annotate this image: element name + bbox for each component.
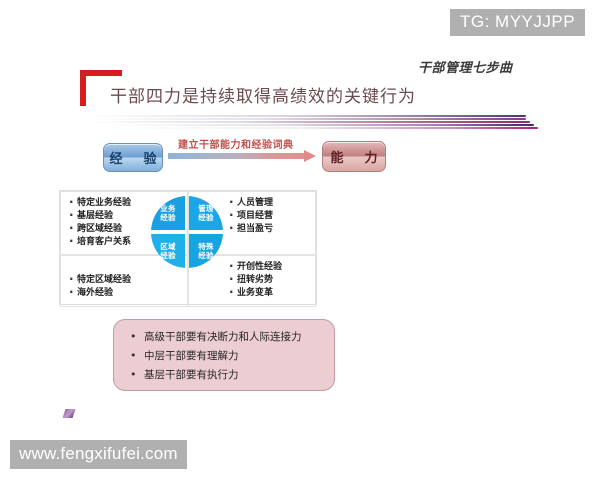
list-item: 项目经营 (227, 210, 309, 223)
channel-watermark: TG: MYYJJPP (450, 9, 585, 36)
experience-quadrant-matrix: 特定业务经验 基层经验 跨区域经验 培育客户关系 人员管理 项目经营 担当盈亏 … (59, 190, 317, 305)
process-arrow-icon (168, 152, 316, 160)
matrix-cell-top-right: 人员管理 项目经营 担当盈亏 (188, 191, 316, 255)
matrix-cell-bottom-right: 开创性经验 扭转劣势 业务变革 (188, 255, 316, 307)
matrix-cell-bottom-left: 特定区域经验 海外经验 (60, 255, 188, 307)
list-item: 中层干部要有理解力 (128, 347, 324, 366)
list-item: 基层干部要有执行力 (128, 366, 324, 385)
matrix-list-top-right: 人员管理 项目经营 担当盈亏 (227, 197, 309, 236)
list-item: 业务变革 (227, 287, 309, 300)
process-node-experience: 经 验 (103, 143, 163, 172)
conclusion-list: 高级干部要有决断力和人际连接力 中层干部要有理解力 基层干部要有执行力 (128, 328, 324, 385)
divider-line-1 (96, 115, 526, 117)
list-item: 扭转劣势 (227, 274, 309, 287)
process-arrow-caption: 建立干部能力和经验词典 (178, 136, 294, 151)
list-item: 跨区域经验 (67, 223, 181, 236)
arrow-head (304, 150, 316, 162)
page-title: 干部四力是持续取得高绩效的关键行为 (110, 82, 416, 107)
divider-line-4 (102, 124, 534, 126)
matrix-cell-top-left: 特定业务经验 基层经验 跨区域经验 培育客户关系 (60, 191, 188, 255)
list-item: 开创性经验 (227, 261, 309, 274)
conclusion-box: 高级干部要有决断力和人际连接力 中层干部要有理解力 基层干部要有执行力 (113, 319, 335, 391)
section-tag: 干部管理七步曲 (418, 57, 513, 76)
arrow-shaft (168, 153, 306, 159)
list-item: 海外经验 (67, 287, 181, 300)
site-watermark: www.fengxifufei.com (10, 440, 187, 469)
process-node-capability: 能 力 (322, 141, 386, 172)
divider-line-2 (90, 118, 526, 120)
matrix-list-bottom-right: 开创性经验 扭转劣势 业务变革 (227, 261, 309, 300)
list-item: 高级干部要有决断力和人际连接力 (128, 328, 324, 347)
matrix-list-top-left: 特定业务经验 基层经验 跨区域经验 培育客户关系 (67, 197, 181, 249)
list-item: 人员管理 (227, 197, 309, 210)
list-item: 担当盈亏 (227, 223, 309, 236)
matrix-list-bottom-left: 特定区域经验 海外经验 (67, 274, 181, 300)
list-item: 特定区域经验 (67, 274, 181, 287)
list-item: 培育客户关系 (67, 236, 181, 249)
divider-line-3 (86, 121, 530, 123)
decorative-parallelogram-icon (63, 409, 76, 418)
divider-line-5 (110, 127, 538, 129)
list-item: 特定业务经验 (67, 197, 181, 210)
list-item: 基层经验 (67, 210, 181, 223)
gradient-divider (86, 113, 538, 133)
